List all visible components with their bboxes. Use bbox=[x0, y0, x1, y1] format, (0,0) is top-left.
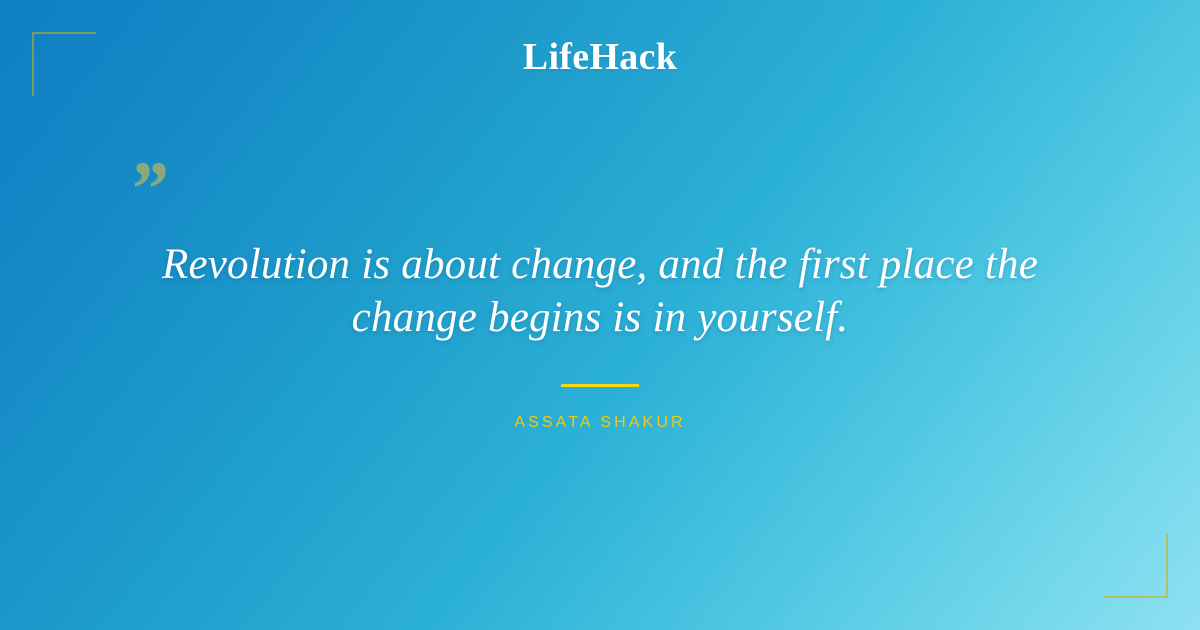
quote-block: Revolution is about change, and the firs… bbox=[100, 238, 1100, 345]
corner-bracket-bottom-right-icon bbox=[1104, 534, 1168, 598]
attribution-divider bbox=[561, 384, 639, 387]
quote-mark-icon: ” bbox=[128, 150, 167, 228]
brand-logo: LifeHack bbox=[0, 38, 1200, 76]
quote-card: LifeHack ” Revolution is about change, a… bbox=[0, 0, 1200, 630]
attribution-author: ASSATA SHAKUR bbox=[0, 415, 1200, 431]
quote-text: Revolution is about change, and the firs… bbox=[100, 238, 1100, 345]
